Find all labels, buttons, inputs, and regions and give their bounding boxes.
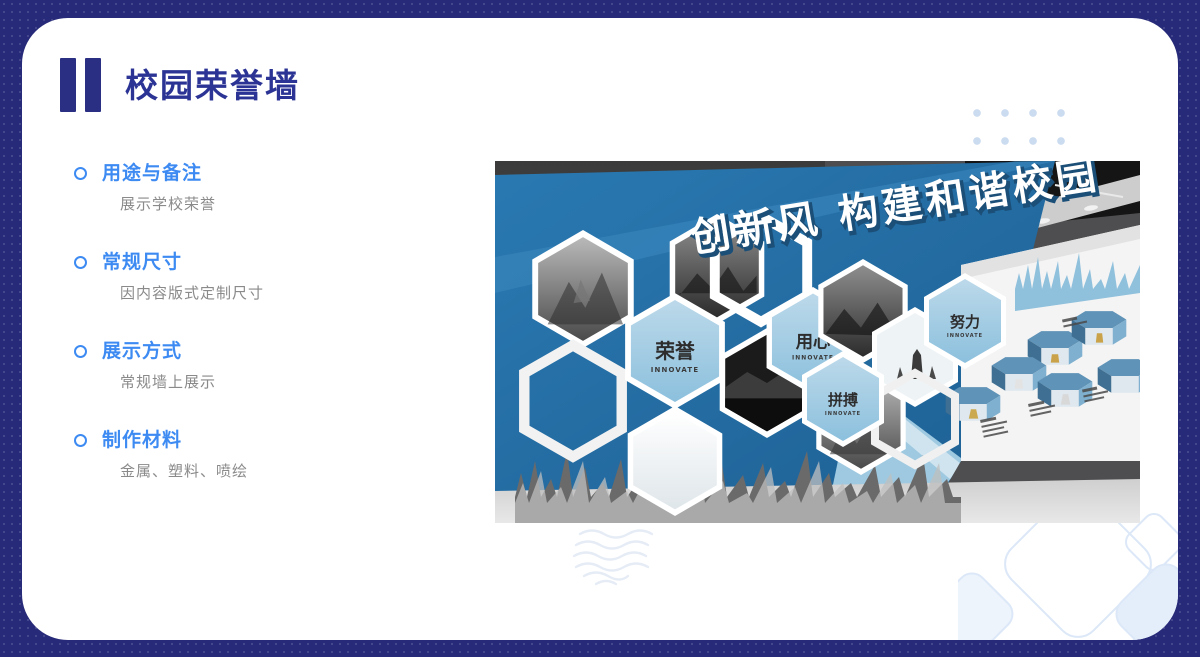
spec-value: 展示学校荣誉 (120, 197, 404, 212)
svg-text:INNOVATE: INNOVATE (651, 366, 699, 374)
spec-label: 常规尺寸 (102, 253, 182, 272)
spec-item-display-mode: 展示方式 常规墙上展示 (74, 342, 404, 390)
spec-item-material: 制作材料 金属、塑料、喷绘 (74, 431, 404, 479)
page-title: 校园荣誉墙 (125, 69, 300, 102)
svg-text:INNOVATE: INNOVATE (825, 411, 861, 417)
spec-label: 制作材料 (102, 431, 182, 450)
spec-list: 用途与备注 展示学校荣誉 常规尺寸 因内容版式定制尺寸 展示方式 常规墙上展示 (74, 164, 404, 520)
spec-value: 金属、塑料、喷绘 (120, 464, 404, 479)
circle-bullet-icon (74, 256, 87, 269)
spec-head: 用途与备注 (74, 164, 404, 183)
spec-head: 常规尺寸 (74, 253, 404, 272)
dot-grid-decoration (963, 99, 1073, 155)
svg-text:荣誉: 荣誉 (654, 340, 695, 363)
spec-label: 用途与备注 (102, 164, 202, 183)
spec-head: 展示方式 (74, 342, 404, 361)
spec-item-usage: 用途与备注 展示学校荣誉 (74, 164, 404, 212)
spec-item-size: 常规尺寸 因内容版式定制尺寸 (74, 253, 404, 301)
spec-value: 常规墙上展示 (120, 375, 404, 390)
content-card: 校园荣誉墙 用途与备注 展示学校荣誉 常规尺寸 因内容版式定制尺寸 (22, 18, 1178, 640)
honour-wall-illustration: 荣誉 INNOVATE (495, 161, 1140, 523)
slide-root: 校园荣誉墙 用途与备注 展示学校荣誉 常规尺寸 因内容版式定制尺寸 (0, 0, 1200, 657)
circle-bullet-icon (74, 434, 87, 447)
title-accent-bar-2 (85, 58, 101, 112)
circle-bullet-icon (74, 167, 87, 180)
wave-decoration (570, 526, 666, 588)
svg-text:拼搏: 拼搏 (828, 391, 858, 409)
spec-head: 制作材料 (74, 431, 404, 450)
spec-value: 因内容版式定制尺寸 (120, 286, 404, 301)
circle-bullet-icon (74, 345, 87, 358)
product-photo: 荣誉 INNOVATE (495, 161, 1140, 523)
title-accent-bar-1 (60, 58, 76, 112)
page-title-row: 校园荣誉墙 (60, 58, 300, 112)
spec-label: 展示方式 (102, 342, 182, 361)
svg-text:INNOVATE: INNOVATE (947, 333, 983, 339)
svg-text:努力: 努力 (950, 313, 980, 331)
